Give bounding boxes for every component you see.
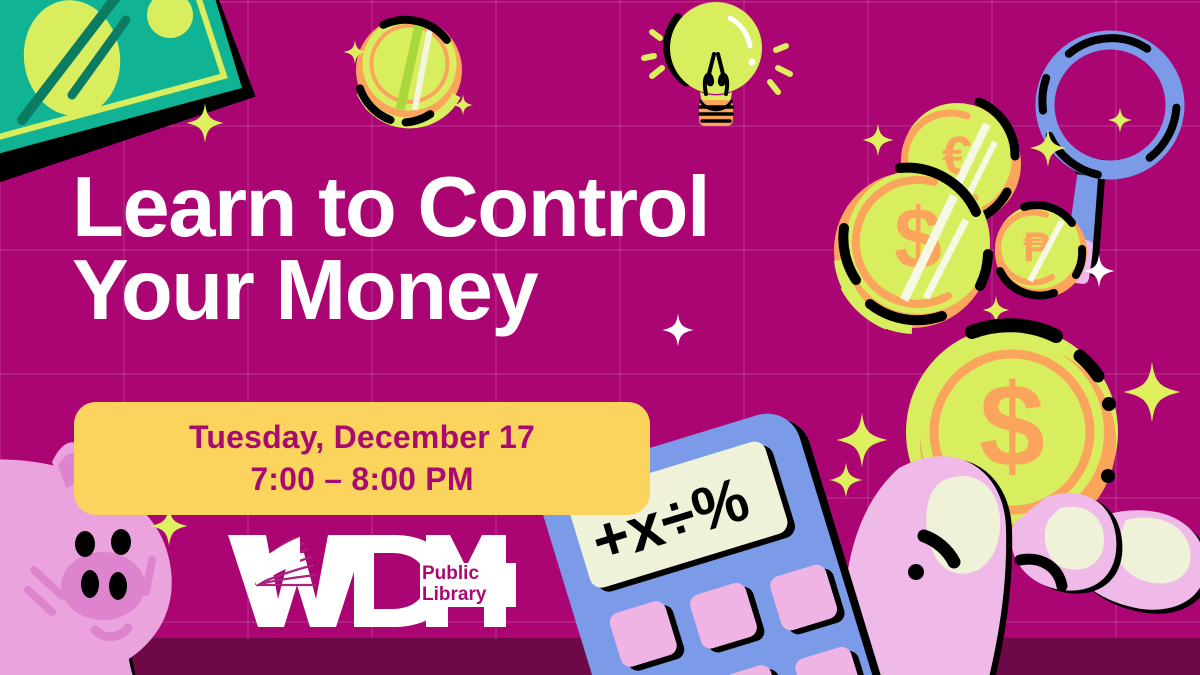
sparkle-icon: [1124, 362, 1181, 423]
sparkle-icon: [830, 462, 863, 497]
coin-top-icon: [345, 6, 474, 135]
logo-subtitle: Public Library: [420, 563, 516, 607]
sparkle-icon: [862, 123, 893, 156]
coin-dollar-icon: $: [834, 168, 990, 328]
promotional-poster: € $: [0, 0, 1200, 675]
wdm-public-library-logo: Public Library: [226, 533, 506, 629]
event-date: Tuesday, December 17: [189, 419, 535, 457]
lightbulb-icon: [644, 2, 790, 126]
svg-text:$: $: [979, 360, 1045, 492]
sparkle-icon: [1108, 107, 1132, 133]
event-date-banner: Tuesday, December 17 7:00 – 8:00 PM: [74, 402, 650, 515]
event-time: 7:00 – 8:00 PM: [250, 461, 473, 499]
page-title: Learn to Control Your Money: [72, 166, 832, 333]
coin-peso-icon: ₱: [995, 205, 1087, 298]
sparkle-icon: [837, 413, 888, 467]
